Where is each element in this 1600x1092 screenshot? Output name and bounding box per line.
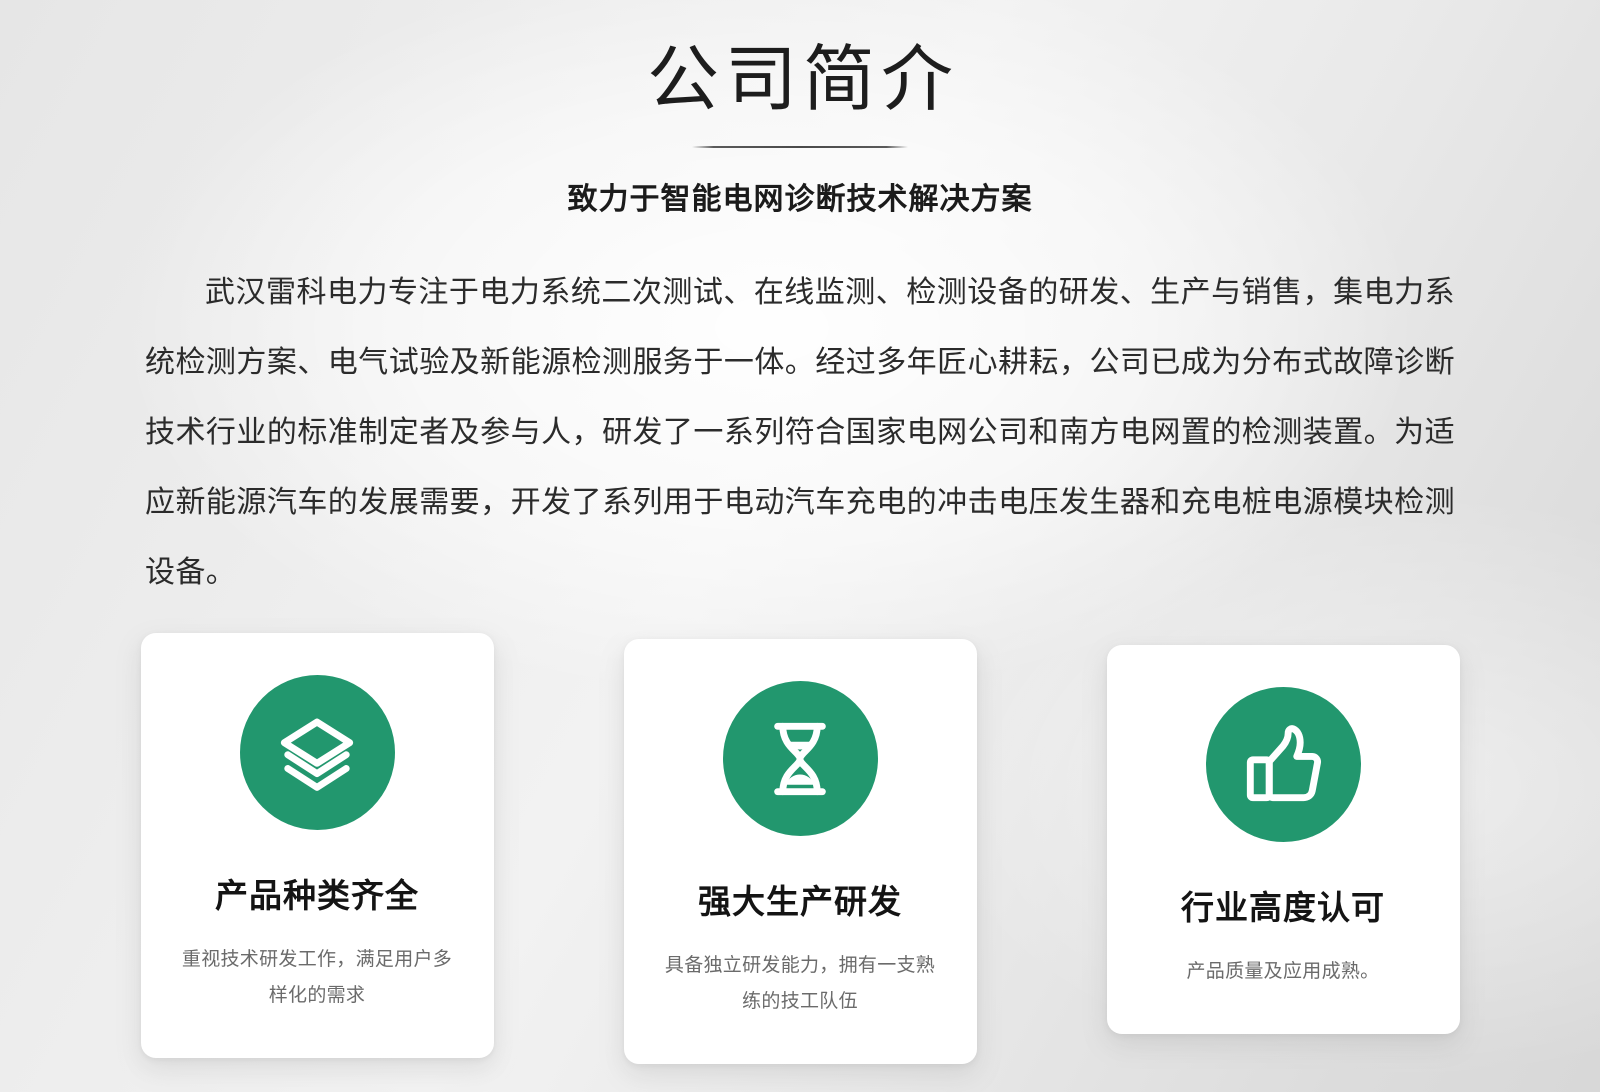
feature-card[interactable]: 行业高度认可 产品质量及应用成熟。 <box>1107 645 1460 1034</box>
feature-card-list: 产品种类齐全 重视技术研发工作，满足用户多样化的需求 <box>0 630 1600 1064</box>
feature-card-description: 产品质量及应用成熟。 <box>1131 954 1436 990</box>
page-subtitle: 致力于智能电网诊断技术解决方案 <box>0 174 1600 218</box>
section-header: 公司简介 致力于智能电网诊断技术解决方案 <box>0 0 1600 218</box>
layers-icon <box>274 710 360 796</box>
company-profile-section: 公司简介 致力于智能电网诊断技术解决方案 武汉雷科电力专注于电力系统二次测试、在… <box>0 0 1600 1092</box>
company-intro-paragraph: 武汉雷科电力专注于电力系统二次测试、在线监测、检测设备的研发、生产与销售，集电力… <box>145 258 1455 608</box>
feature-icon-badge <box>723 681 878 836</box>
title-divider <box>692 146 908 148</box>
feature-card-title: 强大生产研发 <box>648 882 953 922</box>
feature-card-title: 产品种类齐全 <box>165 876 470 916</box>
thumbs-up-icon <box>1240 722 1326 808</box>
feature-card-description: 具备独立研发能力，拥有一支熟练的技工队伍 <box>648 948 953 1020</box>
page-title: 公司简介 <box>0 42 1600 120</box>
feature-card-title: 行业高度认可 <box>1131 888 1436 928</box>
feature-icon-badge <box>1206 687 1361 842</box>
hourglass-icon <box>757 716 843 802</box>
feature-card-description: 重视技术研发工作，满足用户多样化的需求 <box>165 942 470 1014</box>
feature-card[interactable]: 产品种类齐全 重视技术研发工作，满足用户多样化的需求 <box>141 633 494 1058</box>
feature-card[interactable]: 强大生产研发 具备独立研发能力，拥有一支熟练的技工队伍 <box>624 639 977 1064</box>
feature-icon-badge <box>240 675 395 830</box>
